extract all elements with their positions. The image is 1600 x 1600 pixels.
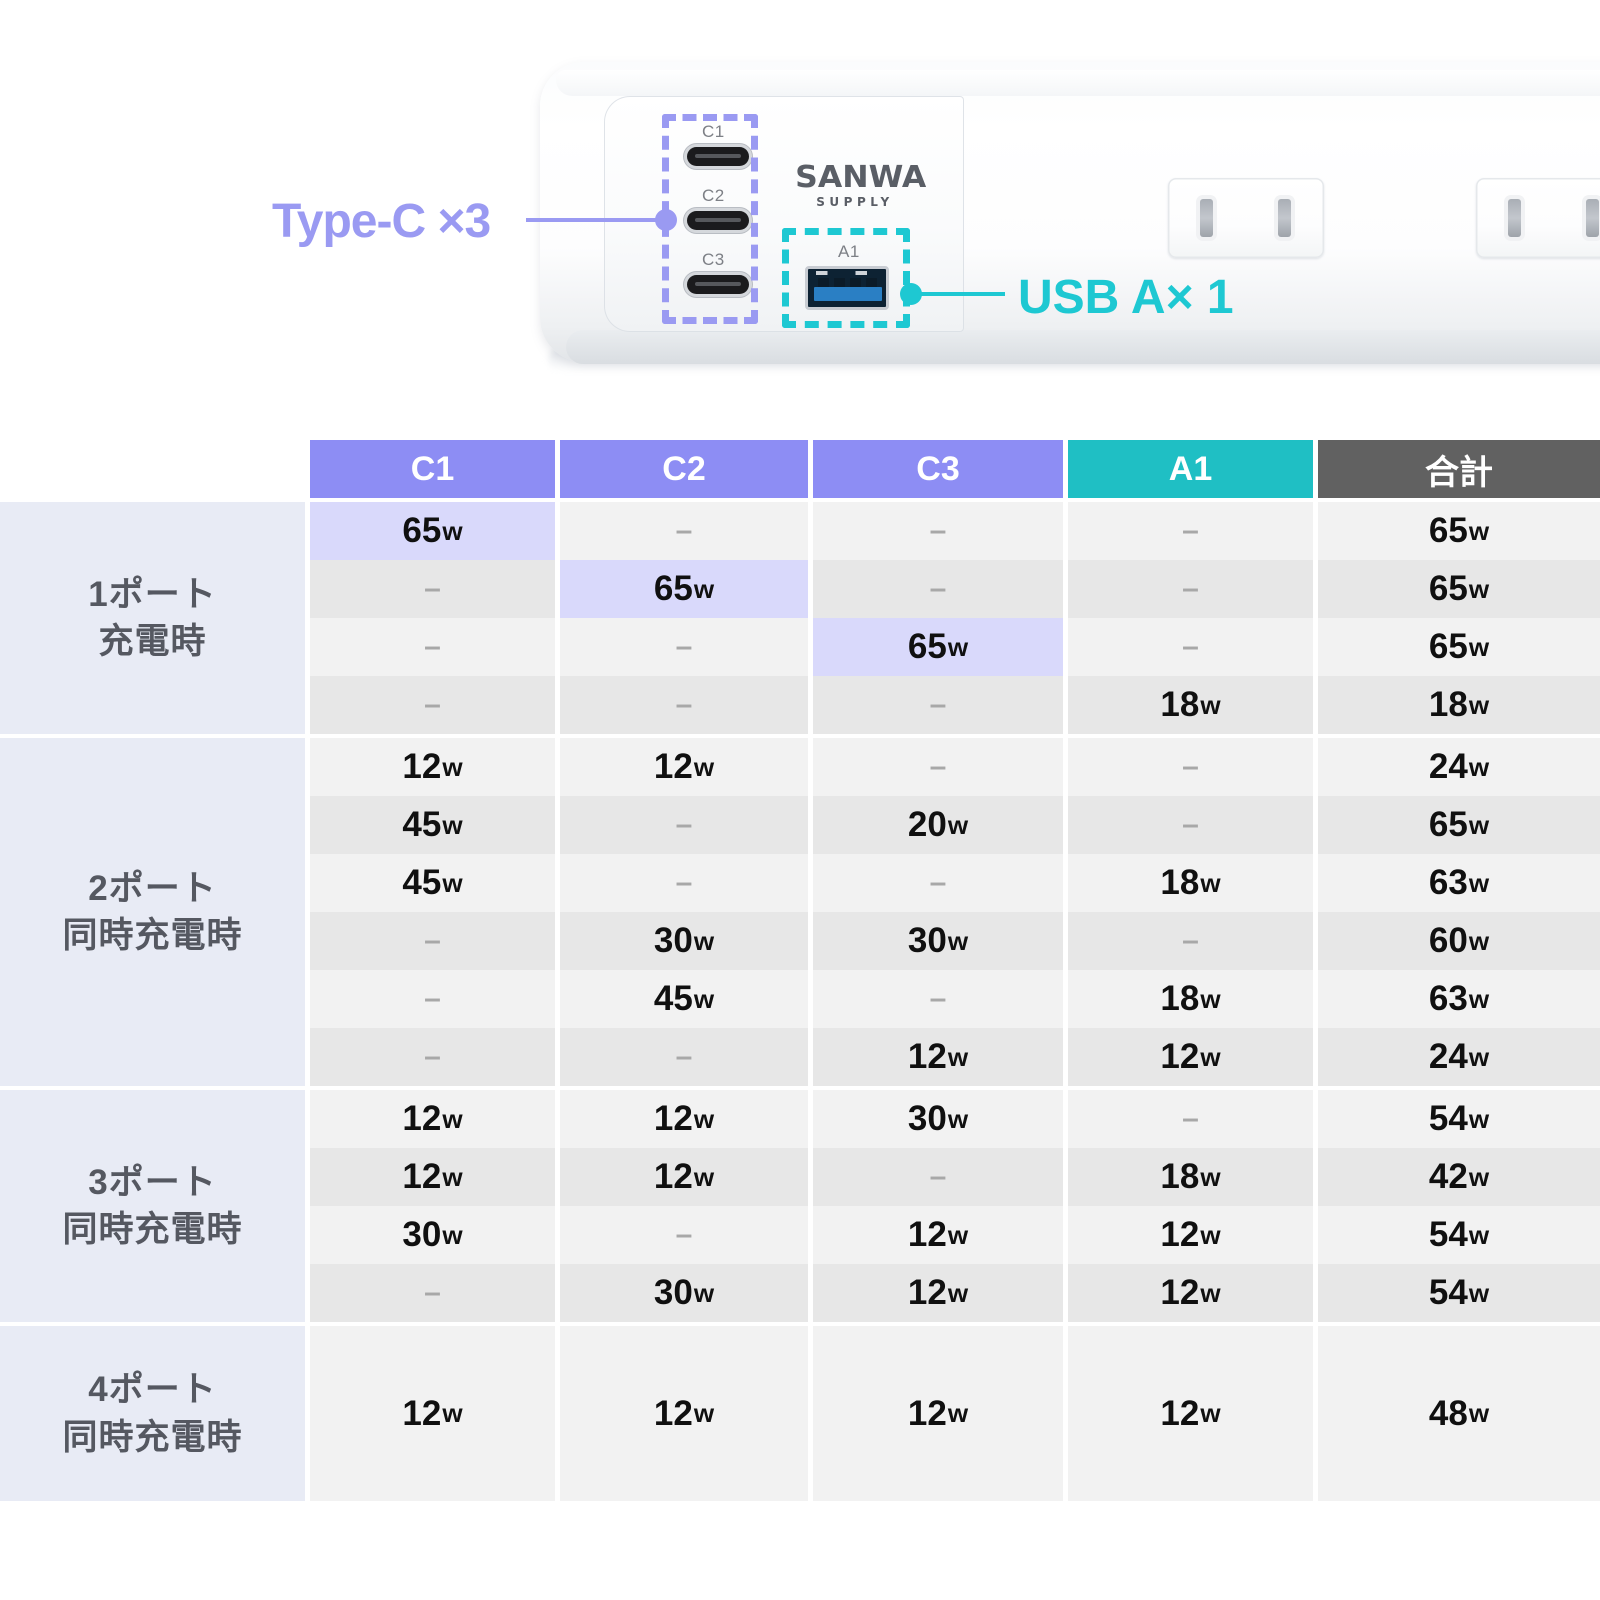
table-cell-c1: – — [310, 1264, 555, 1322]
section-rows-4-port: 12w12w12w12w48w — [310, 1326, 1600, 1501]
section-label-line1: 3ポート — [62, 1159, 242, 1206]
table-cell-c1: – — [310, 970, 555, 1028]
table-cell-a1: 18w — [1068, 676, 1313, 734]
table-cell-total: 65w — [1318, 560, 1600, 618]
table-cell-a1: – — [1068, 618, 1313, 676]
charging-power-table: C1C2C3A1合計 1ポート充電時65w–––65w–65w––65w––65… — [0, 440, 1600, 1501]
table-header-c1: C1 — [310, 440, 555, 498]
section-label-line2: 同時充電時 — [62, 1414, 242, 1461]
table-row: 12w12w––24w — [310, 738, 1600, 796]
sanwa-logo-line1: SANWA — [795, 163, 915, 193]
table-cell-c3: 65w — [813, 618, 1063, 676]
table-row: ––12w12w24w — [310, 1028, 1600, 1086]
table-cell-c1: – — [310, 676, 555, 734]
table-cell-total: 65w — [1318, 618, 1600, 676]
table-cell-c2: – — [560, 502, 808, 560]
table-cell-a1: 12w — [1068, 1028, 1313, 1086]
power-strip-bottom-bevel — [566, 330, 1600, 364]
table-cell-c1: 12w — [310, 1326, 555, 1501]
table-header-total: 合計 — [1318, 440, 1600, 498]
table-cell-c2: 45w — [560, 970, 808, 1028]
section-rows-1-port: 65w–––65w–65w––65w––65w–65w–––18w18w — [310, 502, 1600, 734]
table-cell-c3: – — [813, 560, 1063, 618]
table-cell-total: 18w — [1318, 676, 1600, 734]
table-cell-total: 24w — [1318, 1028, 1600, 1086]
type-c-callout-label: Type-C ×3 — [272, 194, 490, 249]
table-cell-c2: 30w — [560, 1264, 808, 1322]
table-cell-a1: 12w — [1068, 1326, 1313, 1501]
table-cell-a1: – — [1068, 502, 1313, 560]
table-cell-total: 60w — [1318, 912, 1600, 970]
sanwa-logo-line2: SUPPLY — [798, 193, 912, 212]
table-row: 45w––18w63w — [310, 854, 1600, 912]
table-cell-c1: 45w — [310, 854, 555, 912]
table-cell-c3: 30w — [813, 912, 1063, 970]
section-rows-3-port: 12w12w30w–54w12w12w–18w42w30w–12w12w54w–… — [310, 1090, 1600, 1322]
table-cell-a1: 12w — [1068, 1264, 1313, 1322]
type-c-callout-line — [526, 218, 668, 222]
table-cell-a1: 18w — [1068, 970, 1313, 1028]
table-cell-c3: – — [813, 854, 1063, 912]
table-header-row: C1C2C3A1合計 — [310, 440, 1600, 498]
table-cell-total: 54w — [1318, 1090, 1600, 1148]
table-cell-c3: 12w — [813, 1206, 1063, 1264]
table-cell-c1: 45w — [310, 796, 555, 854]
usb-a-callout-dot — [900, 283, 922, 305]
table-cell-c3: – — [813, 970, 1063, 1028]
table-cell-c3: – — [813, 676, 1063, 734]
table-cell-c3: 12w — [813, 1028, 1063, 1086]
table-cell-c2: 65w — [560, 560, 808, 618]
table-cell-c1: – — [310, 618, 555, 676]
section-label-line2: 充電時 — [88, 618, 216, 665]
table-row: 45w–20w–65w — [310, 796, 1600, 854]
table-cell-c2: – — [560, 676, 808, 734]
table-section-4-port: 4ポート同時充電時12w12w12w12w48w — [0, 1326, 1600, 1501]
table-cell-c2: 12w — [560, 1090, 808, 1148]
table-cell-total: 48w — [1318, 1326, 1600, 1501]
table-row: –––18w18w — [310, 676, 1600, 734]
ac-outlet-slot-right — [1278, 199, 1291, 237]
section-label-3-port: 3ポート同時充電時 — [0, 1090, 305, 1322]
table-cell-total: 42w — [1318, 1148, 1600, 1206]
table-cell-c3: 12w — [813, 1326, 1063, 1501]
table-cell-total: 65w — [1318, 502, 1600, 560]
table-cell-c2: – — [560, 1028, 808, 1086]
table-cell-c2: 12w — [560, 1148, 808, 1206]
sanwa-logo: SANWA SUPPLY — [798, 163, 912, 212]
ac-outlet-slot-left — [1200, 199, 1213, 237]
table-cell-a1: – — [1068, 796, 1313, 854]
table-cell-c2: – — [560, 796, 808, 854]
table-cell-total: 54w — [1318, 1206, 1600, 1264]
table-cell-c3: 12w — [813, 1264, 1063, 1322]
type-c-callout-dot — [655, 209, 677, 231]
section-label-1-port: 1ポート充電時 — [0, 502, 305, 734]
table-cell-total: 24w — [1318, 738, 1600, 796]
table-cell-c2: – — [560, 618, 808, 676]
usb-a-callout-label: USB A× 1 — [1018, 270, 1234, 325]
section-rows-2-port: 12w12w––24w45w–20w–65w45w––18w63w–30w30w… — [310, 738, 1600, 1086]
table-cell-total: 63w — [1318, 854, 1600, 912]
table-cell-c1: 12w — [310, 1090, 555, 1148]
section-label-4-port: 4ポート同時充電時 — [0, 1326, 305, 1501]
table-section-3-port: 3ポート同時充電時12w12w30w–54w12w12w–18w42w30w–1… — [0, 1090, 1600, 1322]
table-cell-c3: – — [813, 738, 1063, 796]
table-cell-c1: 12w — [310, 1148, 555, 1206]
table-header-c3: C3 — [813, 440, 1063, 498]
table-row: –65w––65w — [310, 560, 1600, 618]
table-cell-c2: 30w — [560, 912, 808, 970]
table-row: 30w–12w12w54w — [310, 1206, 1600, 1264]
table-row: –30w12w12w54w — [310, 1264, 1600, 1322]
table-header-a1: A1 — [1068, 440, 1313, 498]
table-cell-c1: 65w — [310, 502, 555, 560]
table-header-c2: C2 — [560, 440, 808, 498]
table-row: 12w12w30w–54w — [310, 1090, 1600, 1148]
table-cell-c3: – — [813, 1148, 1063, 1206]
table-cell-c2: 12w — [560, 1326, 808, 1501]
table-row: 12w12w–18w42w — [310, 1148, 1600, 1206]
table-row: –30w30w–60w — [310, 912, 1600, 970]
section-label-line1: 1ポート — [88, 571, 216, 618]
table-cell-c1: – — [310, 912, 555, 970]
section-label-line2: 同時充電時 — [62, 912, 242, 959]
table-cell-a1: – — [1068, 912, 1313, 970]
table-cell-c1: 12w — [310, 738, 555, 796]
usb-a-callout-line — [915, 292, 1005, 296]
usb-a-highlight-box — [782, 228, 910, 328]
table-cell-c2: – — [560, 854, 808, 912]
table-cell-c3: 30w — [813, 1090, 1063, 1148]
section-label-line2: 同時充電時 — [62, 1206, 242, 1253]
section-label-2-port: 2ポート同時充電時 — [0, 738, 305, 1086]
power-strip-top-bevel — [556, 70, 1600, 96]
table-cell-a1: – — [1068, 560, 1313, 618]
table-row: ––65w–65w — [310, 618, 1600, 676]
ac-outlet-1 — [1168, 178, 1324, 258]
table-cell-c2: – — [560, 1206, 808, 1264]
table-cell-c3: 20w — [813, 796, 1063, 854]
table-cell-total: 63w — [1318, 970, 1600, 1028]
table-cell-c1: – — [310, 560, 555, 618]
table-cell-c1: – — [310, 1028, 555, 1086]
ac-outlet-slot-left — [1508, 199, 1521, 237]
table-cell-total: 65w — [1318, 796, 1600, 854]
table-cell-a1: – — [1068, 1090, 1313, 1148]
table-cell-c2: 12w — [560, 738, 808, 796]
page-root: C1 C2 C3 A1 SANWA SUPPLY — [0, 0, 1600, 1600]
table-cell-c3: – — [813, 502, 1063, 560]
section-label-line1: 4ポート — [62, 1366, 242, 1413]
table-row: –45w–18w63w — [310, 970, 1600, 1028]
ac-outlet-slot-right — [1586, 199, 1599, 237]
table-cell-a1: 18w — [1068, 854, 1313, 912]
table-cell-total: 54w — [1318, 1264, 1600, 1322]
table-row: 12w12w12w12w48w — [310, 1326, 1600, 1501]
table-row: 65w–––65w — [310, 502, 1600, 560]
table-sections: 1ポート充電時65w–––65w–65w––65w––65w–65w–––18w… — [0, 502, 1600, 1501]
table-section-2-port: 2ポート同時充電時12w12w––24w45w–20w–65w45w––18w6… — [0, 738, 1600, 1086]
product-photo: C1 C2 C3 A1 SANWA SUPPLY — [0, 0, 1600, 420]
table-cell-c1: 30w — [310, 1206, 555, 1264]
table-section-1-port: 1ポート充電時65w–––65w–65w––65w––65w–65w–––18w… — [0, 502, 1600, 734]
table-cell-a1: – — [1068, 738, 1313, 796]
table-cell-a1: 18w — [1068, 1148, 1313, 1206]
table-cell-a1: 12w — [1068, 1206, 1313, 1264]
ac-outlet-2 — [1476, 178, 1600, 258]
section-label-line1: 2ポート — [62, 865, 242, 912]
